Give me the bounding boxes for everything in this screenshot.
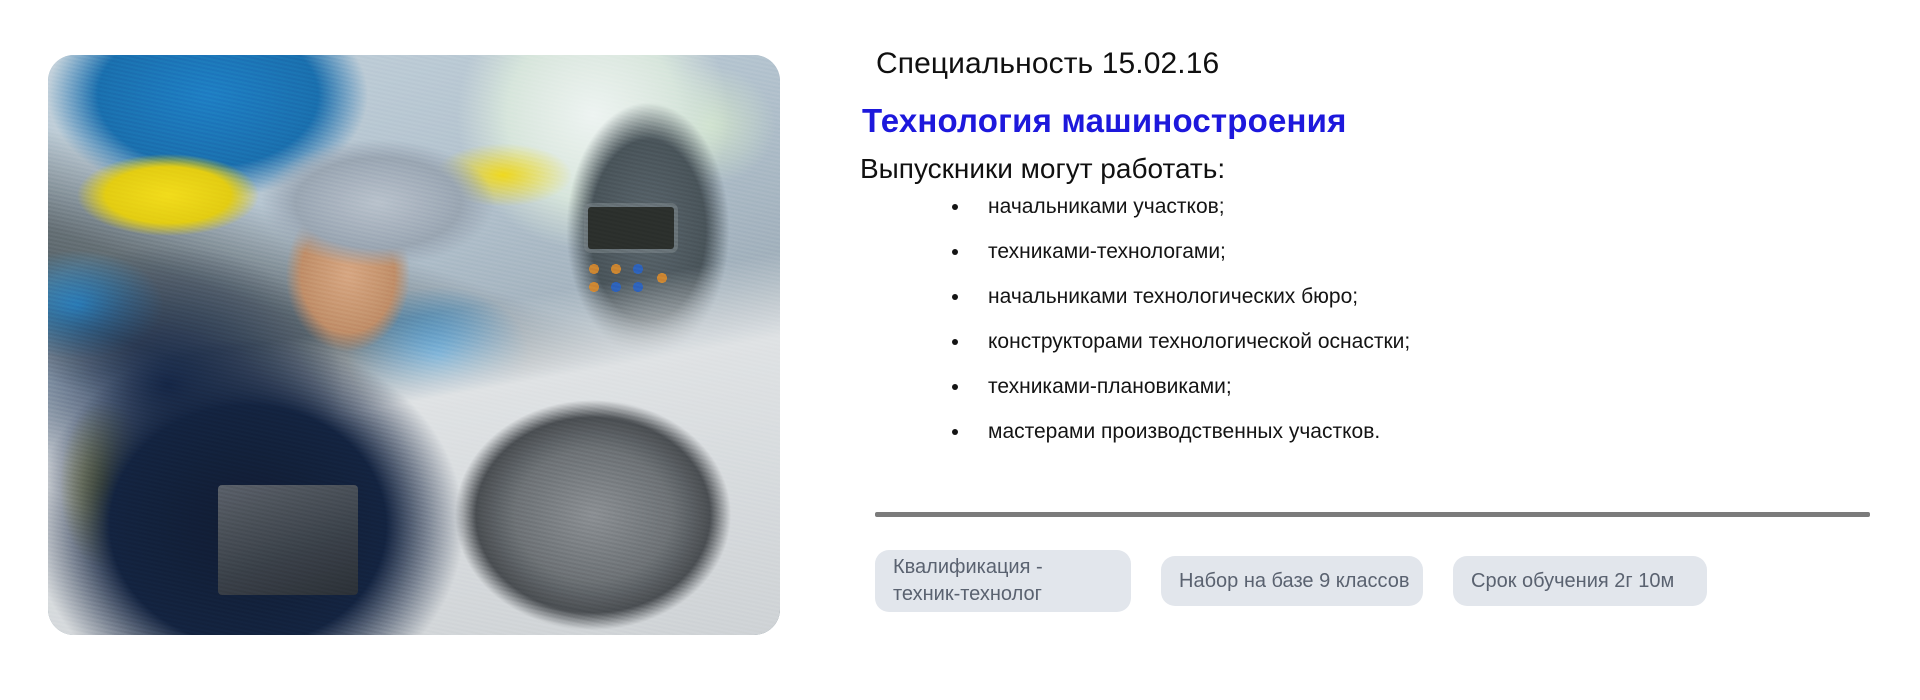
list-item-label: техниками-плановиками; [988,375,1232,398]
tag-admission-base-label: Набор на базе 9 классов [1179,568,1410,595]
list-item-label: техниками-технологами; [988,240,1226,263]
bullet-dot-icon [952,429,958,435]
bullet-dot-icon [952,384,958,390]
list-item: техниками-технологами; [930,238,1790,265]
course-photo-image [48,55,780,635]
bullet-dot-icon [952,249,958,255]
list-item-label: начальниками участков; [988,195,1225,218]
list-item: начальниками технологических бюро; [930,283,1790,310]
section-divider [875,512,1870,517]
list-item: начальниками участков; [930,193,1790,220]
list-item: техниками-плановиками; [930,373,1790,400]
cnc-display-icon [588,207,674,249]
tag-group: Квалификация - техник-технолог Набор на … [875,550,1885,620]
content-column: Специальность 15.02.16 Технология машино… [800,0,1890,700]
tag-qualification: Квалификация - техник-технолог [875,550,1131,612]
specialty-code: Специальность 15.02.16 [876,45,1219,83]
tag-study-duration-label: Срок обучения 2г 10м [1471,568,1674,595]
course-photo [48,55,780,635]
list-item: конструкторами технологической оснастки; [930,328,1790,355]
bullet-dot-icon [952,204,958,210]
lathe-toolpost-icon [218,485,358,595]
list-item-label: начальниками технологических бюро; [988,285,1358,308]
tag-admission-base: Набор на базе 9 классов [1161,556,1423,606]
list-item-label: конструкторами технологической оснастки; [988,330,1410,353]
tag-qualification-label: Квалификация - техник-технолог [893,554,1113,608]
careers-list: начальниками участков; техниками-техноло… [930,193,1790,463]
tag-study-duration: Срок обучения 2г 10м [1453,556,1707,606]
list-item: мастерами производственных участков. [930,418,1790,445]
careers-heading: Выпускники могут работать: [860,150,1225,188]
cnc-keypad-icon [582,260,686,304]
page-title: Технология машиностроения [862,100,1347,142]
slide-root: Специальность 15.02.16 Технология машино… [0,0,1920,700]
bullet-dot-icon [952,294,958,300]
bullet-dot-icon [952,339,958,345]
list-item-label: мастерами производственных участков. [988,420,1380,443]
